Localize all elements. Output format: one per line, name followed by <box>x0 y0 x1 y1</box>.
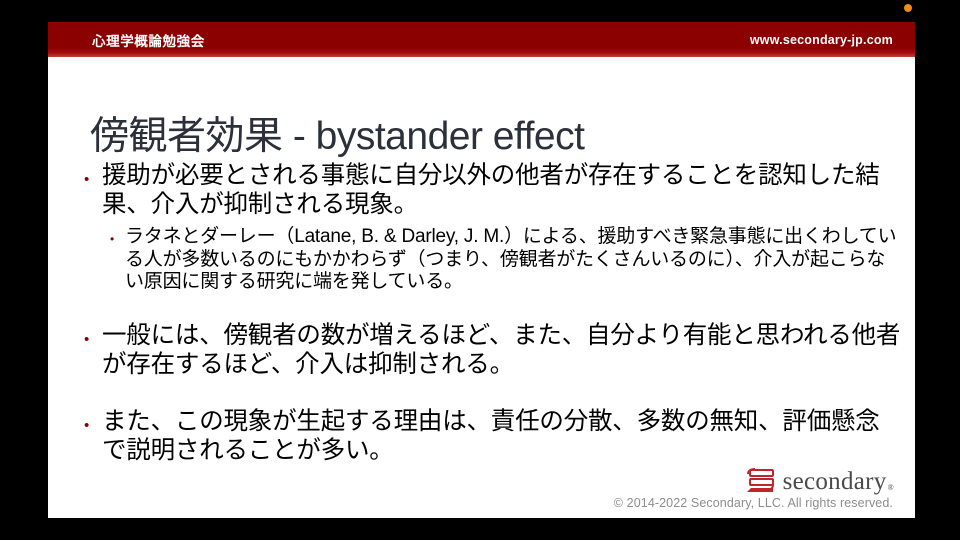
slide-footer: secondary® © 2014-2022 Secondary, LLC. A… <box>614 468 893 510</box>
spacer <box>84 384 903 408</box>
bullet-text: 援助が必要とされる事態に自分以外の他者が存在することを認知した結果、介入が抑制さ… <box>102 162 903 220</box>
bullet-marker-icon: • <box>84 162 102 187</box>
bullet-text: ラタネとダーレー（Latane, B. & Darley, J. M.）による、… <box>125 226 903 294</box>
bullet-item-4: • また、この現象が生起する理由は、責任の分散、多数の無知、評価懸念で説明される… <box>84 408 903 466</box>
bullet-item-3: • 一般には、傍観者の数が増えるほど、また、自分より有能と思われる他者が存在する… <box>84 322 903 380</box>
status-indicator-dot <box>904 4 912 12</box>
secondary-book-logo-icon <box>744 468 778 494</box>
logo-wordmark: secondary® <box>783 469 893 494</box>
header-website-url: www.secondary-jp.com <box>750 33 893 47</box>
bullet-marker-icon: • <box>84 322 102 347</box>
sub-bullet-group: • ラタネとダーレー（Latane, B. & Darley, J. M.）によ… <box>84 226 903 294</box>
bullet-list: • 援助が必要とされる事態に自分以外の他者が存在することを認知した結果、介入が抑… <box>84 162 903 470</box>
bullet-item-2: • ラタネとダーレー（Latane, B. & Darley, J. M.）によ… <box>110 226 903 294</box>
secondary-logo: secondary® <box>614 468 893 494</box>
bullet-text: また、この現象が生起する理由は、責任の分散、多数の無知、評価懸念で説明されること… <box>102 408 903 466</box>
spacer <box>84 294 903 322</box>
bullet-marker-icon: • <box>110 226 125 245</box>
screen-viewport: 心理学概論勉強会 www.secondary-jp.com 傍観者効果 - by… <box>0 0 960 540</box>
copyright-notice: © 2014-2022 Secondary, LLC. All rights r… <box>614 496 893 510</box>
bullet-item-1: • 援助が必要とされる事態に自分以外の他者が存在することを認知した結果、介入が抑… <box>84 162 903 220</box>
presentation-slide: 心理学概論勉強会 www.secondary-jp.com 傍観者効果 - by… <box>48 22 915 518</box>
bullet-marker-icon: • <box>84 408 102 433</box>
slide-body: 傍観者効果 - bystander effect • 援助が必要とされる事態に自… <box>48 57 915 518</box>
slide-header-bar: 心理学概論勉強会 www.secondary-jp.com <box>48 22 915 57</box>
logo-wordmark-text: secondary <box>783 468 887 495</box>
registered-trademark-icon: ® <box>888 483 894 492</box>
page-title: 傍観者効果 - bystander effect <box>90 105 584 161</box>
header-seminar-title: 心理学概論勉強会 <box>92 30 205 50</box>
bullet-text: 一般には、傍観者の数が増えるほど、また、自分より有能と思われる他者が存在するほど… <box>102 322 903 380</box>
